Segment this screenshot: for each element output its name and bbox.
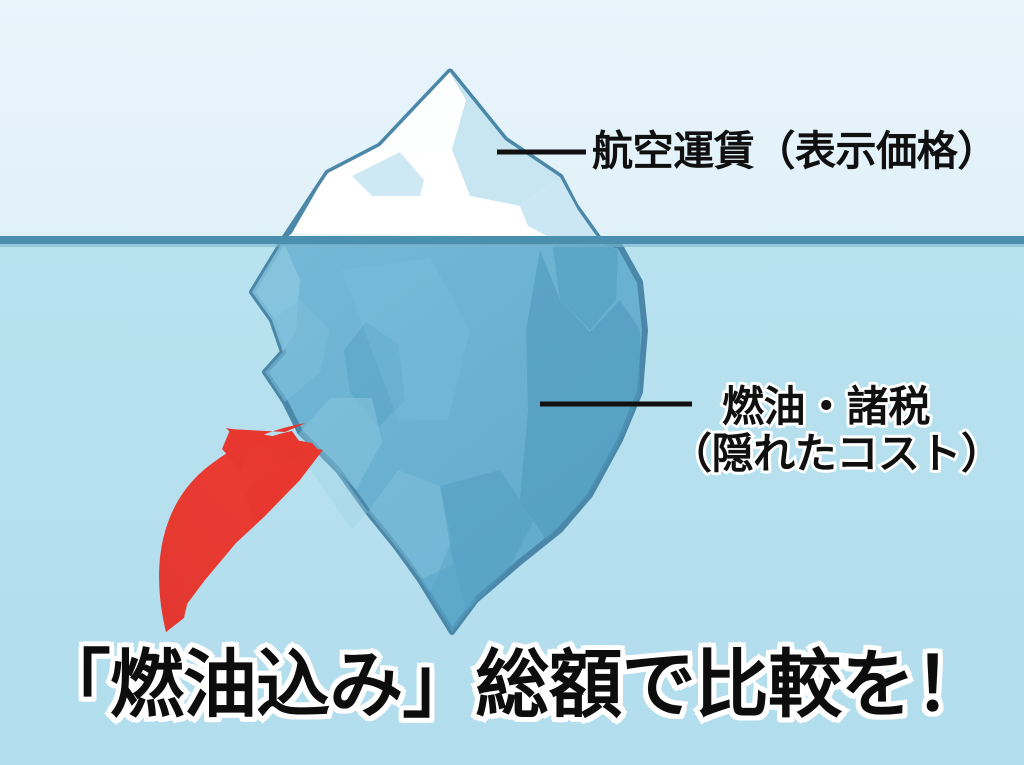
headline-banner: 「燃油込み」総額で比較を！ — [0, 646, 1024, 724]
callout-label-fuel-line1: 燃油・諸税 — [670, 383, 982, 430]
callout-label-fuel-line2: （隠れたコスト） — [670, 430, 982, 477]
infographic-canvas: 航空運賃（表示価格） 燃油・諸税 （隠れたコスト） 「燃油込み」総額で比較を！ — [0, 0, 1024, 765]
callout-label-fuel: 燃油・諸税 （隠れたコスト） — [670, 383, 982, 477]
waterline-highlight — [0, 244, 1024, 247]
waterline — [0, 236, 1024, 244]
callout-label-fare: 航空運賃（表示価格） — [592, 129, 998, 175]
